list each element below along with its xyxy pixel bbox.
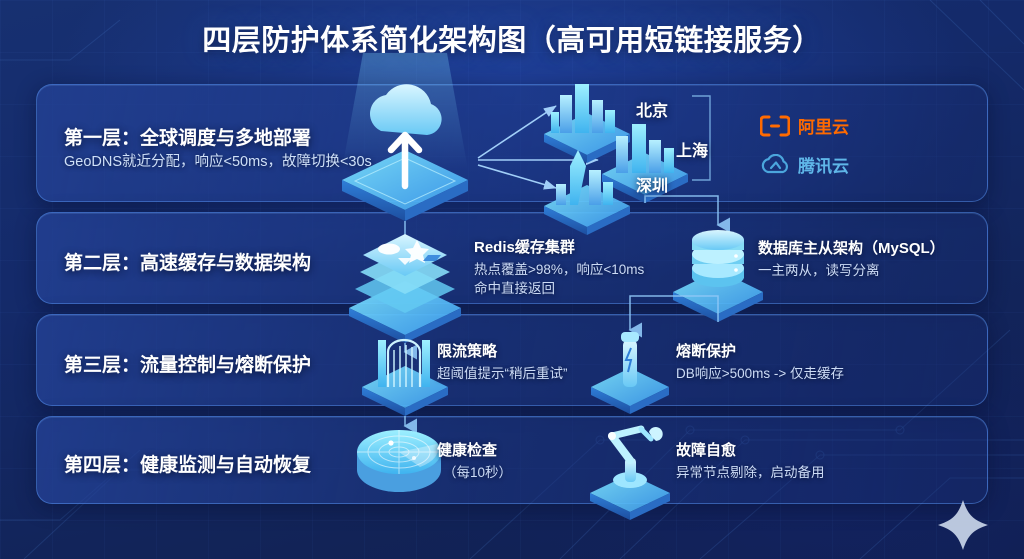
vendor-tencent-cloud: 腾讯云	[760, 152, 849, 177]
layer-panel-4: 第四层：健康监测与自动恢复	[36, 416, 988, 504]
region-label-beijing: 北京	[636, 97, 668, 121]
layer-4-title: 第四层：健康监测与自动恢复	[64, 450, 311, 477]
node-title-redis: Redis缓存集群	[474, 236, 575, 257]
node-title-health-check: 健康检查	[437, 439, 497, 460]
node-title-rate-limit: 限流策略	[437, 340, 497, 361]
node-title-mysql: 数据库主从架构（MySQL）	[758, 237, 945, 258]
layer-3-title: 第三层：流量控制与熔断保护	[64, 350, 311, 377]
region-label-shanghai: 上海	[676, 137, 708, 161]
layer-panel-3: 第三层：流量控制与熔断保护	[36, 314, 988, 406]
vendor-aliyun: 阿里云	[760, 113, 849, 138]
node-line-mysql-1: 一主两从，读写分离	[758, 259, 880, 279]
node-line-redis-2: 命中直接返回	[474, 277, 555, 297]
region-label-shenzhen: 深圳	[636, 172, 668, 196]
node-line-health-check-1: （每10秒）	[443, 461, 512, 481]
node-title-self-healing: 故障自愈	[676, 439, 736, 460]
vendor-tencent-label: 腾讯云	[798, 152, 849, 177]
layer-1-subtitle: GeoDNS就近分配，响应<50ms，故障切换<30s	[64, 150, 372, 171]
page-title: 四层防护体系简化架构图（高可用短链接服务）	[0, 17, 1024, 59]
layer-1-title: 第一层：全球调度与多地部署	[64, 123, 311, 150]
node-line-rate-limit-1: 超阈值提示“稍后重试”	[437, 362, 568, 382]
node-title-circuit-breaker: 熔断保护	[676, 340, 736, 361]
node-line-circuit-breaker-1: DB响应>500ms -> 仅走缓存	[676, 362, 844, 382]
node-line-self-healing-1: 异常节点剔除，启动备用	[676, 461, 825, 481]
vendor-aliyun-label: 阿里云	[798, 113, 849, 138]
aliyun-logo-icon	[760, 115, 790, 137]
layer-panel-1: 第一层：全球调度与多地部署 GeoDNS就近分配，响应<50ms，故障切换<30…	[36, 84, 988, 202]
tencent-cloud-logo-icon	[760, 154, 790, 176]
layer-2-title: 第二层：高速缓存与数据架构	[64, 248, 311, 275]
node-line-redis-1: 热点覆盖>98%，响应<10ms	[474, 258, 644, 278]
